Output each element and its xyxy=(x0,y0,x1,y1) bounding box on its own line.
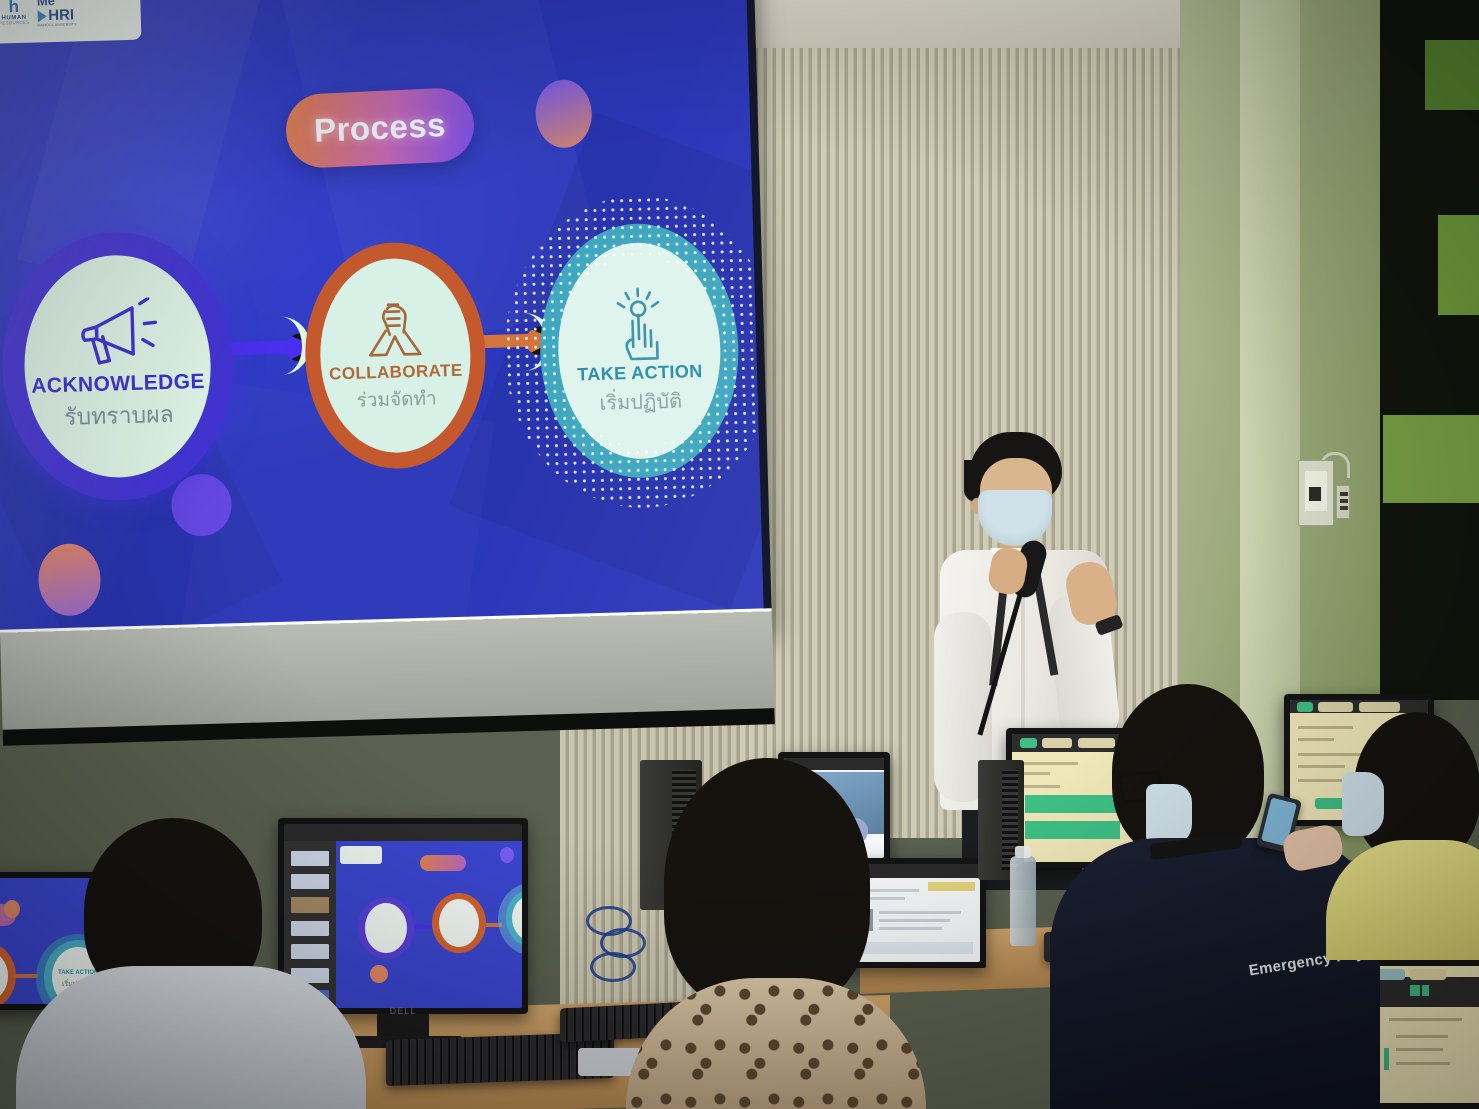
monitor-bottom-right[interactable] xyxy=(1364,960,1479,1109)
screen-lower-panel xyxy=(0,608,775,735)
wall-accent-rect-1 xyxy=(1425,40,1479,110)
wall-accent-rect-3 xyxy=(1383,415,1479,503)
attendee-yellow-face-mask xyxy=(1342,772,1384,836)
monitor-brand-label: DELL xyxy=(390,1006,417,1016)
presenter-face-mask xyxy=(978,490,1052,546)
wall-switch-plate[interactable] xyxy=(1336,485,1350,519)
water-bottle[interactable] xyxy=(1010,856,1036,946)
powerpoint-titlebar xyxy=(284,824,522,841)
room-scene: h HUMAN RESOURCES Me HRI MAHIDOL UNIVERS… xyxy=(0,0,1479,1109)
attendee-left-shoulders xyxy=(16,966,366,1109)
survey-form-bottom-screen xyxy=(1370,966,1479,1103)
electrical-box[interactable] xyxy=(1298,460,1334,526)
wall-accent-rect-2 xyxy=(1438,215,1479,315)
monitor-dell-center[interactable]: DELL xyxy=(278,818,528,1014)
attendee-center-head xyxy=(664,758,870,1010)
electrical-box-slot xyxy=(1309,487,1321,501)
attendee-navy-face-mask xyxy=(1146,784,1192,846)
powerpoint-slide-canvas[interactable] xyxy=(336,841,522,1008)
attendee-navy-shoulders xyxy=(1050,838,1380,1109)
screen-surface: h HUMAN RESOURCES Me HRI MAHIDOL UNIVERS… xyxy=(0,0,764,630)
projection-screen: h HUMAN RESOURCES Me HRI MAHIDOL UNIVERS… xyxy=(0,0,794,780)
